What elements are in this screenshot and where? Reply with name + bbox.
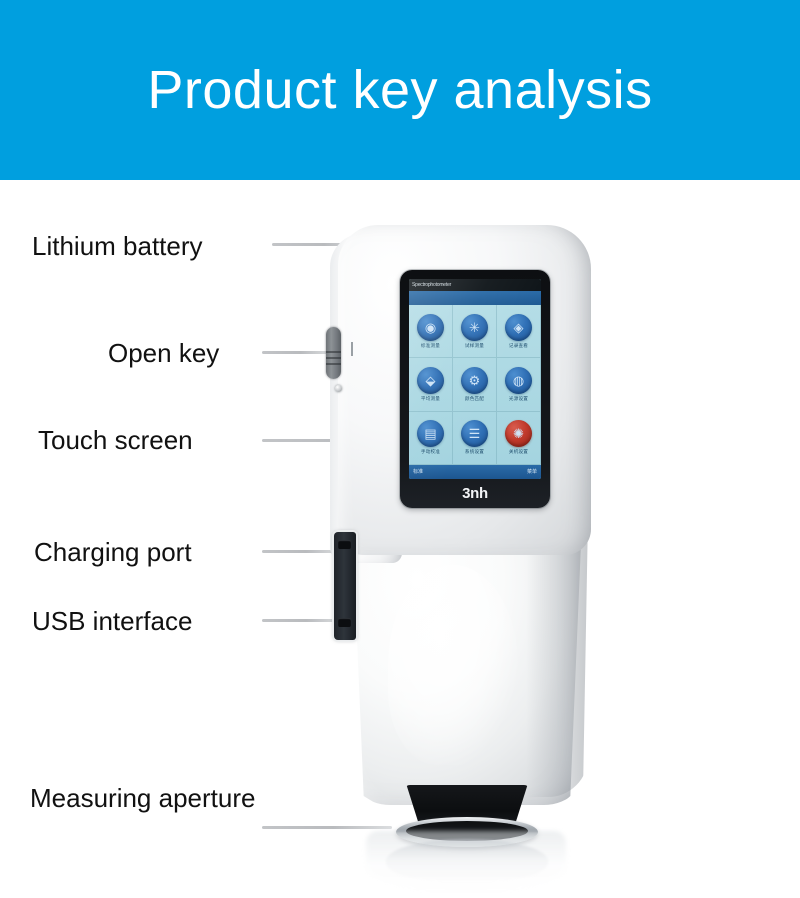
color-match-icon: ⚙ (461, 367, 488, 394)
callout-label-lithium-battery: Lithium battery (32, 231, 203, 261)
menu-item-record[interactable]: ◈ 记录查看 (497, 305, 541, 358)
menu-item-light-source[interactable]: ◍ 光源设置 (497, 358, 541, 411)
screen-bezel: Spectrophotometer ◉ 标准测量 ✳ 试样测量 (400, 270, 550, 508)
status-led-dot (335, 385, 342, 392)
open-key-ridge (326, 363, 341, 365)
record-icon: ◈ (505, 314, 532, 341)
port-panel (334, 532, 356, 640)
callout-label-touch-screen: Touch screen (38, 425, 193, 455)
header-banner: Product key analysis (0, 0, 800, 180)
open-key-button[interactable] (326, 327, 341, 379)
aperture-reflection (386, 839, 548, 883)
statusbar-left-label[interactable]: 标准 (413, 468, 423, 476)
leader-line-open-key (262, 351, 332, 354)
menu-item-label: 关机设置 (509, 449, 528, 455)
open-key-indicator-tick (351, 342, 353, 356)
charging-port-slot[interactable] (338, 540, 351, 549)
menu-item-label: 手动校准 (421, 449, 440, 455)
average-measure-icon: ⬙ (417, 367, 444, 394)
menu-item-label: 记录查看 (509, 343, 528, 349)
callout-label-measuring-aperture: Measuring aperture (30, 783, 255, 813)
device-body-shading (526, 517, 588, 797)
screen-titlebar: Spectrophotometer (409, 279, 541, 291)
page-title: Product key analysis (0, 58, 800, 122)
touch-screen[interactable]: Spectrophotometer ◉ 标准测量 ✳ 试样测量 (409, 279, 541, 479)
statusbar-right-label[interactable]: 菜单 (527, 468, 537, 476)
menu-item-power-off[interactable]: ✺ 关机设置 (497, 412, 541, 465)
menu-item-label: 光源设置 (509, 396, 528, 402)
menu-item-label: 平均测量 (421, 396, 440, 402)
product-diagram-page: Product key analysis Lithium battery Ope… (0, 0, 800, 898)
brand-logo: 3nh (400, 485, 550, 502)
menu-item-color-match[interactable]: ⚙ 颜色匹配 (453, 358, 497, 411)
screen-subbar (409, 291, 541, 305)
menu-item-label: 试样测量 (465, 343, 484, 349)
spectrophotometer-device: Spectrophotometer ◉ 标准测量 ✳ 试样测量 (330, 205, 600, 865)
sample-measure-icon: ✳ (461, 314, 488, 341)
menu-item-label: 颜色匹配 (465, 396, 484, 402)
menu-item-standard-measure[interactable]: ◉ 标准测量 (409, 305, 453, 358)
light-source-icon: ◍ (505, 367, 532, 394)
menu-item-average-measure[interactable]: ⬙ 平均测量 (409, 358, 453, 411)
system-settings-icon: ☰ (461, 420, 488, 447)
screen-menu-grid: ◉ 标准测量 ✳ 试样测量 ◈ 记录查看 (409, 305, 541, 465)
callout-label-open-key: Open key (108, 338, 219, 368)
callout-label-charging-port: Charging port (34, 537, 192, 567)
menu-item-label: 标准测量 (421, 343, 440, 349)
open-key-ridge (326, 357, 341, 359)
calibration-icon: ▤ (417, 420, 444, 447)
open-key-ridge (326, 351, 341, 353)
menu-item-system-settings[interactable]: ☰ 系统设置 (453, 412, 497, 465)
standard-measure-icon: ◉ (417, 314, 444, 341)
usb-interface-slot[interactable] (338, 618, 351, 627)
power-off-icon: ✺ (505, 420, 532, 447)
device-body-highlight (388, 565, 518, 765)
menu-item-calibration[interactable]: ▤ 手动校准 (409, 412, 453, 465)
menu-item-sample-measure[interactable]: ✳ 试样测量 (453, 305, 497, 358)
callout-label-usb-interface: USB interface (32, 606, 192, 636)
menu-item-label: 系统设置 (465, 449, 484, 455)
screen-statusbar: 标准 菜单 (409, 465, 541, 479)
